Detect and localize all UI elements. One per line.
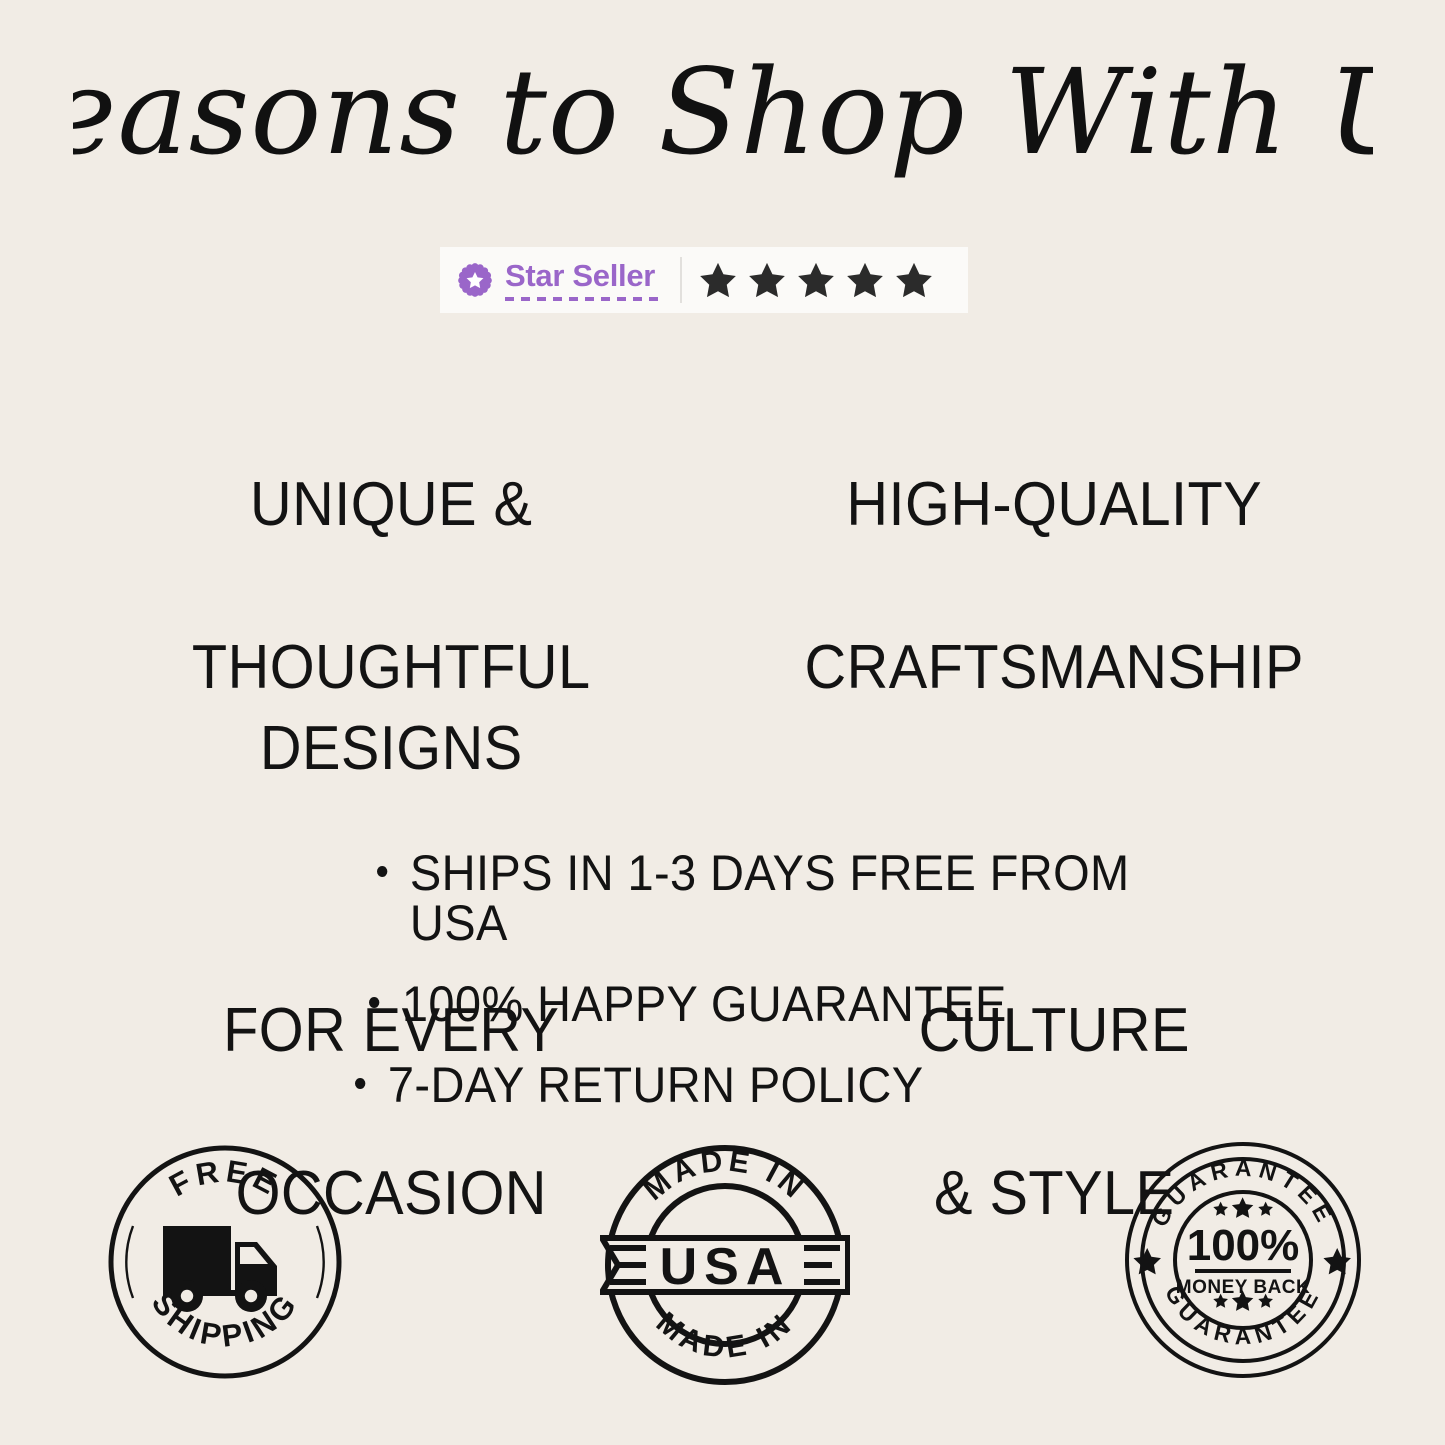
delivery-truck-icon [163, 1226, 277, 1312]
star-seller-label-wrap: Star Seller [505, 260, 664, 301]
feature-line-2: CRAFTSMANSHIP [804, 633, 1303, 702]
made-in-usa-ribbon-label: USA [660, 1238, 791, 1296]
feature-line-2: THOUGHTFUL DESIGNS [192, 633, 591, 783]
feature-unique-designs: UNIQUE & THOUGHTFUL DESIGNS [83, 383, 699, 789]
star-icon [794, 259, 838, 301]
feature-row-1: UNIQUE & THOUGHTFUL DESIGNS HIGH-QUALITY… [60, 383, 1385, 789]
made-in-usa-badge: MADE IN MADE IN USA [600, 1140, 850, 1390]
star-icon [892, 259, 936, 301]
star-rosette-icon [458, 263, 492, 297]
feature-line-1: UNIQUE & [250, 470, 532, 539]
star-rating [688, 259, 936, 301]
trust-badges: FREE SHIPPING [0, 1140, 1445, 1400]
star-icon [696, 259, 740, 301]
guarantee-percent-label: 100% [1187, 1221, 1300, 1270]
list-item: SHIPS IN 1-3 DAYS FREE FROM USA [377, 848, 1202, 948]
star-icon [1232, 1197, 1253, 1218]
star-icon [745, 259, 789, 301]
promo-graphic: Reasons to Shop With Us [0, 0, 1445, 1445]
star-seller-left: Star Seller [440, 247, 664, 313]
star-icon [1213, 1202, 1228, 1216]
free-shipping-badge: FREE SHIPPING [103, 1140, 347, 1384]
page-title: Reasons to Shop With Us [0, 28, 1445, 208]
guarantee-subtext-label: MONEY BACK [1176, 1277, 1311, 1298]
star-seller-divider [680, 257, 682, 303]
feature-high-quality: HIGH-QUALITY CRAFTSMANSHIP [746, 383, 1362, 789]
star-seller-badge: Star Seller [440, 247, 968, 313]
bullet-dot-icon [369, 997, 379, 1008]
list-item-label: SHIPS IN 1-3 DAYS FREE FROM USA [410, 848, 1202, 948]
list-item: 7-DAY RETURN POLICY [355, 1060, 1201, 1110]
star-icon [1258, 1202, 1273, 1216]
benefits-list: SHIPS IN 1-3 DAYS FREE FROM USA 100% HAP… [355, 848, 1255, 1141]
star-seller-underline [505, 297, 664, 301]
bullet-dot-icon [377, 866, 387, 877]
bullet-dot-icon [355, 1078, 365, 1089]
star-seller-label: Star Seller [505, 260, 655, 291]
made-in-usa-bottom-label: MADE IN [650, 1306, 800, 1365]
list-item: 100% HAPPY GUARANTEE [369, 979, 1202, 1029]
usa-ribbon: USA [602, 1238, 848, 1296]
star-icon [1133, 1248, 1161, 1274]
money-back-guarantee-badge: GUARANTEE GUARANTEE [1123, 1140, 1363, 1380]
list-item-label: 7-DAY RETURN POLICY [388, 1060, 924, 1110]
page-title-text: Reasons to Shop With Us [73, 43, 1373, 181]
free-shipping-top-label: FREE [163, 1153, 286, 1203]
made-in-usa-top-label: MADE IN [638, 1144, 813, 1207]
list-item-label: 100% HAPPY GUARANTEE [402, 979, 1007, 1029]
star-icon [843, 259, 887, 301]
feature-line-1: HIGH-QUALITY [846, 470, 1262, 539]
star-icon [1323, 1248, 1351, 1274]
